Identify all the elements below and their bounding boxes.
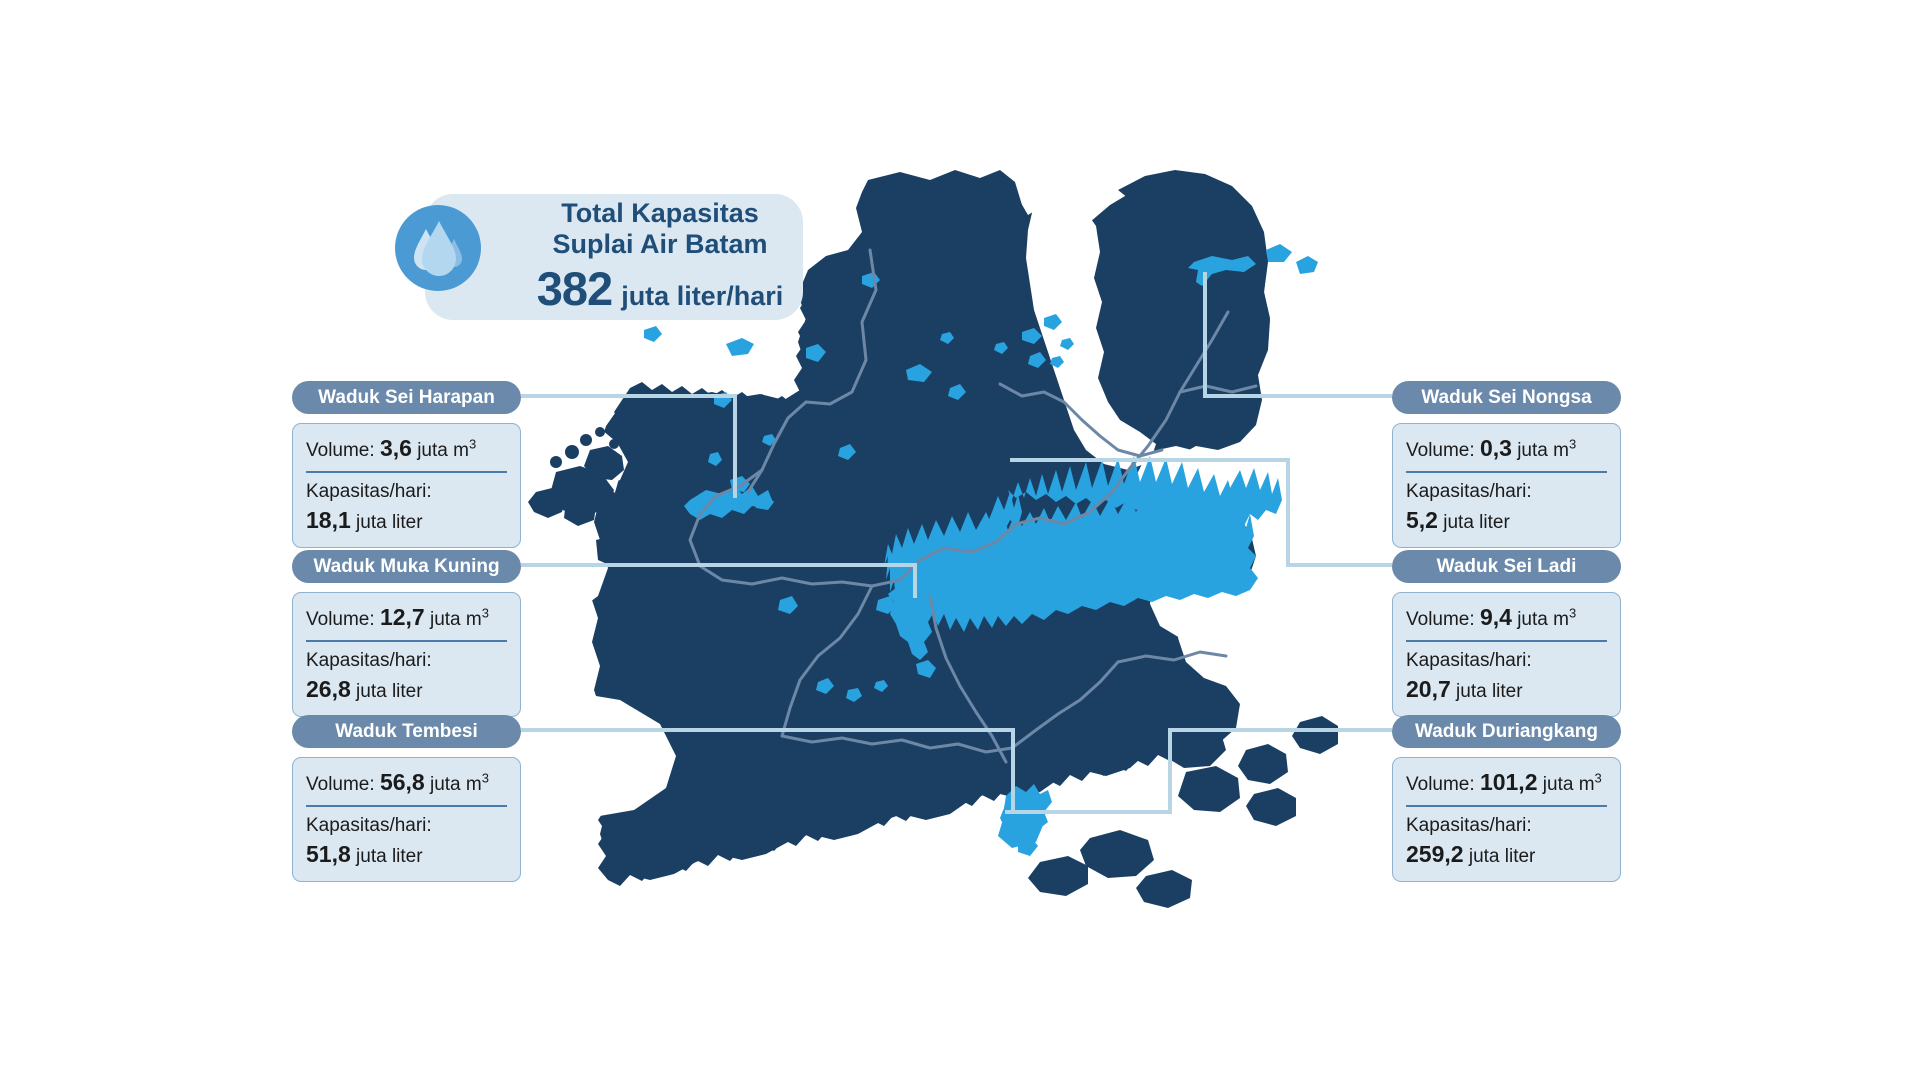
reservoir-volume-sei-ladi: Volume: 9,4 juta m3	[1406, 602, 1607, 633]
volume-unit: juta m	[430, 774, 482, 795]
capacity-value: 18,1	[306, 507, 351, 533]
capacity-unit: juta liter	[356, 681, 423, 702]
capacity-unit: juta liter	[1469, 846, 1536, 867]
capacity-unit: juta liter	[356, 846, 423, 867]
volume-unit-exponent: 3	[482, 771, 489, 786]
volume-prefix: Volume:	[1406, 774, 1475, 795]
reservoir-volume-duriangkang: Volume: 101,2 juta m3	[1406, 767, 1607, 798]
card-separator	[306, 640, 507, 642]
reservoir-body-sei-harapan: Volume: 3,6 juta m3 Kapasitas/hari: 18,1…	[292, 423, 521, 548]
volume-prefix: Volume:	[306, 440, 375, 461]
capacity-value: 259,2	[1406, 841, 1464, 867]
capacity-value: 5,2	[1406, 507, 1438, 533]
reservoir-pill-muka-kuning[interactable]: Waduk Muka Kuning	[292, 550, 521, 583]
reservoir-card-duriangkang[interactable]: Waduk Duriangkang Volume: 101,2 juta m3 …	[1392, 715, 1621, 882]
water-drops-icon	[395, 205, 481, 291]
capacity-label: Kapasitas/hari:	[306, 649, 507, 674]
capacity-label: Kapasitas/hari:	[306, 814, 507, 839]
reservoir-card-muka-kuning[interactable]: Waduk Muka Kuning Volume: 12,7 juta m3 K…	[292, 550, 521, 717]
reservoir-capacity-duriangkang: 259,2 juta liter	[1406, 839, 1607, 870]
reservoir-volume-sei-nongsa: Volume: 0,3 juta m3	[1406, 433, 1607, 464]
capacity-value: 51,8	[306, 841, 351, 867]
volume-value: 56,8	[380, 769, 425, 795]
capacity-label: Kapasitas/hari:	[306, 480, 507, 505]
reservoir-body-muka-kuning: Volume: 12,7 juta m3 Kapasitas/hari: 26,…	[292, 592, 521, 717]
infographic-canvas: Total Kapasitas Suplai Air Batam 382 jut…	[0, 0, 1920, 1080]
volume-unit-exponent: 3	[1569, 606, 1576, 621]
volume-prefix: Volume:	[306, 774, 375, 795]
card-separator	[306, 805, 507, 807]
capacity-label: Kapasitas/hari:	[1406, 480, 1607, 505]
total-title-line2: Suplai Air Batam	[535, 229, 785, 259]
reservoir-volume-tembesi: Volume: 56,8 juta m3	[306, 767, 507, 798]
volume-unit: juta m	[430, 609, 482, 630]
total-capacity-text: Total Kapasitas Suplai Air Batam 382 jut…	[535, 198, 785, 315]
volume-prefix: Volume:	[306, 609, 375, 630]
volume-unit: juta m	[1517, 440, 1569, 461]
volume-unit: juta m	[1517, 609, 1569, 630]
reservoir-card-sei-nongsa[interactable]: Waduk Sei Nongsa Volume: 0,3 juta m3 Kap…	[1392, 381, 1621, 548]
card-separator	[1406, 471, 1607, 473]
reservoir-pill-duriangkang[interactable]: Waduk Duriangkang	[1392, 715, 1621, 748]
total-capacity-card: Total Kapasitas Suplai Air Batam 382 jut…	[425, 194, 803, 320]
volume-unit-exponent: 3	[482, 606, 489, 621]
capacity-value: 20,7	[1406, 676, 1451, 702]
volume-value: 9,4	[1480, 604, 1512, 630]
capacity-unit: juta liter	[356, 512, 423, 533]
volume-value: 101,2	[1480, 769, 1538, 795]
reservoir-card-sei-harapan[interactable]: Waduk Sei Harapan Volume: 3,6 juta m3 Ka…	[292, 381, 521, 548]
reservoir-volume-sei-harapan: Volume: 3,6 juta m3	[306, 433, 507, 464]
reservoir-body-duriangkang: Volume: 101,2 juta m3 Kapasitas/hari: 25…	[1392, 757, 1621, 882]
capacity-label: Kapasitas/hari:	[1406, 814, 1607, 839]
volume-prefix: Volume:	[1406, 609, 1475, 630]
card-separator	[306, 471, 507, 473]
total-value-row: 382 juta liter/hari	[535, 261, 785, 316]
reservoir-pill-sei-harapan[interactable]: Waduk Sei Harapan	[292, 381, 521, 414]
capacity-label: Kapasitas/hari:	[1406, 649, 1607, 674]
volume-unit-exponent: 3	[1595, 771, 1602, 786]
reservoir-body-sei-ladi: Volume: 9,4 juta m3 Kapasitas/hari: 20,7…	[1392, 592, 1621, 717]
volume-unit-exponent: 3	[469, 437, 476, 452]
reservoir-body-tembesi: Volume: 56,8 juta m3 Kapasitas/hari: 51,…	[292, 757, 521, 882]
reservoir-pill-tembesi[interactable]: Waduk Tembesi	[292, 715, 521, 748]
reservoir-capacity-muka-kuning: 26,8 juta liter	[306, 674, 507, 705]
reservoir-capacity-sei-nongsa: 5,2 juta liter	[1406, 505, 1607, 536]
reservoir-volume-muka-kuning: Volume: 12,7 juta m3	[306, 602, 507, 633]
batam-map	[0, 0, 1920, 1080]
reservoir-pill-sei-ladi[interactable]: Waduk Sei Ladi	[1392, 550, 1621, 583]
reservoir-capacity-sei-harapan: 18,1 juta liter	[306, 505, 507, 536]
volume-value: 3,6	[380, 435, 412, 461]
reservoir-pill-sei-nongsa[interactable]: Waduk Sei Nongsa	[1392, 381, 1621, 414]
total-title-line1: Total Kapasitas	[535, 198, 785, 228]
volume-value: 0,3	[1480, 435, 1512, 461]
reservoir-capacity-tembesi: 51,8 juta liter	[306, 839, 507, 870]
volume-value: 12,7	[380, 604, 425, 630]
reservoir-card-tembesi[interactable]: Waduk Tembesi Volume: 56,8 juta m3 Kapas…	[292, 715, 521, 882]
card-separator	[1406, 805, 1607, 807]
volume-unit-exponent: 3	[1569, 437, 1576, 452]
card-separator	[1406, 640, 1607, 642]
total-unit: juta liter/hari	[621, 281, 783, 312]
volume-unit: juta m	[417, 440, 469, 461]
reservoir-card-sei-ladi[interactable]: Waduk Sei Ladi Volume: 9,4 juta m3 Kapas…	[1392, 550, 1621, 717]
volume-unit: juta m	[1543, 774, 1595, 795]
total-value: 382	[537, 261, 612, 316]
capacity-unit: juta liter	[1456, 681, 1523, 702]
capacity-value: 26,8	[306, 676, 351, 702]
reservoir-body-sei-nongsa: Volume: 0,3 juta m3 Kapasitas/hari: 5,2 …	[1392, 423, 1621, 548]
reservoir-capacity-sei-ladi: 20,7 juta liter	[1406, 674, 1607, 705]
volume-prefix: Volume:	[1406, 440, 1475, 461]
capacity-unit: juta liter	[1443, 512, 1510, 533]
